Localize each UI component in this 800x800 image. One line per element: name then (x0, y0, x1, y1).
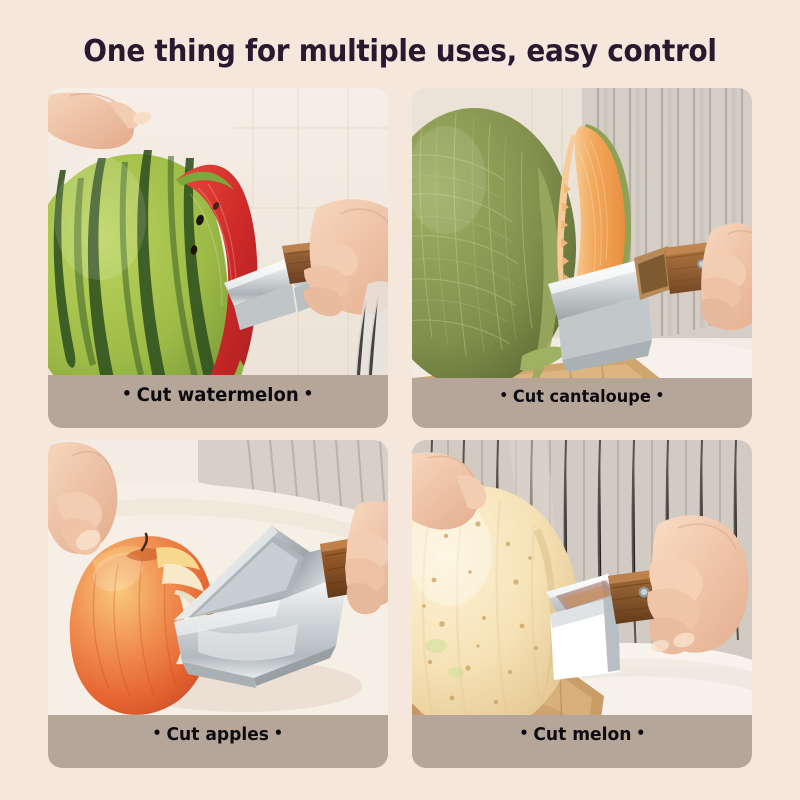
caption-bar-melon: •Cut melon• (412, 715, 752, 768)
caption-bar-apples: •Cut apples• (48, 715, 388, 768)
bullet-right-icon: • (631, 724, 650, 742)
caption-label: Cut apples (167, 724, 270, 745)
bullet-left-icon: • (118, 384, 137, 403)
bullet-right-icon: • (651, 388, 669, 404)
infographic-page: One thing for multiple uses, easy contro… (0, 0, 800, 800)
caption-label: Cut watermelon (137, 384, 299, 406)
bullet-left-icon: • (514, 724, 533, 742)
bullet-right-icon: • (299, 384, 318, 403)
bullet-left-icon: • (148, 724, 167, 742)
caption-label: Cut cantaloupe (513, 387, 651, 407)
caption-apples: •Cut apples• (148, 724, 288, 745)
bullet-right-icon: • (269, 724, 288, 742)
caption-label: Cut melon (533, 724, 631, 745)
caption-bar-watermelon: •Cut watermelon• (48, 375, 388, 428)
photo-cantaloupe (412, 88, 752, 428)
caption-bar-cantaloupe: •Cut cantaloupe• (412, 378, 752, 428)
caption-watermelon: •Cut watermelon• (118, 384, 319, 406)
bullet-left-icon: • (495, 388, 513, 404)
caption-cantaloupe: •Cut cantaloupe• (495, 387, 669, 407)
panel-watermelon[interactable]: •Cut watermelon• (48, 88, 388, 428)
panel-apples[interactable]: •Cut apples• (48, 440, 388, 768)
panel-cantaloupe[interactable]: •Cut cantaloupe• (412, 88, 752, 428)
page-title: One thing for multiple uses, easy contro… (28, 34, 772, 69)
panel-grid: •Cut watermelon• (48, 88, 752, 768)
panel-melon[interactable]: •Cut melon• (412, 440, 752, 768)
caption-melon: •Cut melon• (514, 724, 650, 745)
